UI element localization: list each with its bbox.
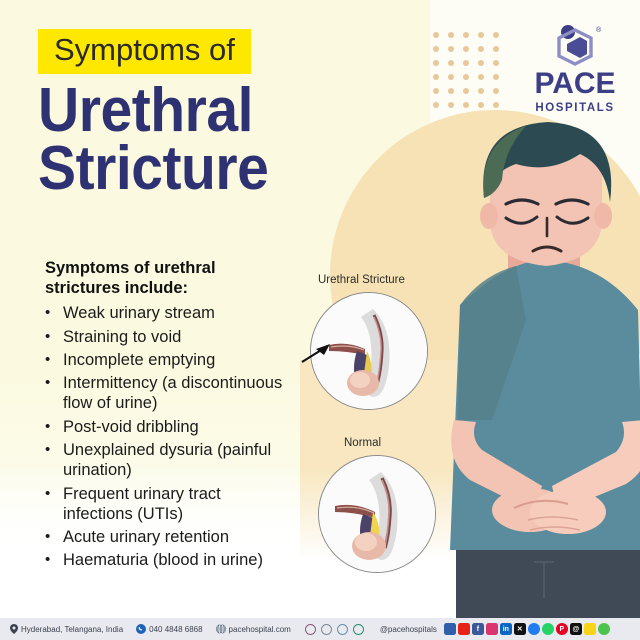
threads-icon[interactable]: @ — [570, 623, 582, 635]
symptoms-heading: Symptoms of urethral strictures include: — [45, 258, 295, 298]
symptoms-list: •Weak urinary stream •Straining to void … — [45, 303, 295, 570]
list-item: •Acute urinary retention — [45, 527, 295, 547]
globe-icon — [216, 624, 226, 634]
list-item-label: Intermittency (a discontinuous flow of u… — [63, 373, 295, 414]
instagram-icon[interactable] — [486, 623, 498, 635]
nabh-badge — [305, 624, 316, 635]
list-item: •Post-void dribbling — [45, 417, 295, 437]
bullet-icon: • — [45, 440, 63, 460]
youtube-icon[interactable] — [458, 623, 470, 635]
bookmark-icon[interactable] — [444, 623, 456, 635]
bullet-icon: • — [45, 303, 63, 323]
kicker-banner: Symptoms of — [38, 29, 251, 74]
brand-name: PACE — [520, 69, 630, 99]
list-item-label: Acute urinary retention — [63, 527, 295, 547]
list-item-label: Unexplained dysuria (painful urination) — [63, 440, 295, 481]
list-item: •Frequent urinary tract infections (UTIs… — [45, 484, 295, 525]
symptoms-section: Symptoms of urethral strictures include:… — [45, 258, 295, 574]
x-twitter-icon[interactable]: ✕ — [514, 623, 526, 635]
stricture-pointer-arrow-icon — [300, 340, 336, 371]
footer-bar: Hyderabad, Telangana, India 040 4848 686… — [0, 618, 640, 640]
phone-icon — [136, 624, 146, 634]
list-item: •Weak urinary stream — [45, 303, 295, 323]
list-item: •Straining to void — [45, 327, 295, 347]
social-handle: @pacehospitals — [380, 625, 437, 634]
snapchat-icon[interactable] — [584, 623, 596, 635]
footer-website[interactable]: pacehospital.com — [216, 624, 291, 634]
footer-location: Hyderabad, Telangana, India — [10, 624, 123, 634]
green-badge — [353, 624, 364, 635]
iso-badge — [337, 624, 348, 635]
accreditation-badges — [305, 624, 364, 635]
list-item-label: Haematuria (blood in urine) — [63, 550, 295, 570]
list-item-label: Straining to void — [63, 327, 295, 347]
social-links: f in ✕ P @ — [444, 623, 610, 635]
bullet-icon: • — [45, 350, 63, 370]
linkedin-icon[interactable]: in — [500, 623, 512, 635]
bullet-icon: • — [45, 327, 63, 347]
brand-logo[interactable]: ® PACE HOSPITALS — [520, 22, 630, 114]
bullet-icon: • — [45, 417, 63, 437]
diagram-label-normal: Normal — [344, 437, 381, 449]
bullet-icon: • — [45, 550, 63, 570]
footer-contact-group: Hyderabad, Telangana, India 040 4848 686… — [10, 624, 291, 634]
title-line-1: Urethral — [38, 82, 268, 140]
bullet-icon: • — [45, 484, 63, 504]
man-holding-abdomen-illustration — [430, 120, 640, 620]
hexagon-person-icon: ® — [520, 22, 630, 68]
list-item: •Haematuria (blood in urine) — [45, 550, 295, 570]
list-item-label: Incomplete emptying — [63, 350, 295, 370]
footer-location-label: Hyderabad, Telangana, India — [21, 625, 123, 634]
footer-phone-label: 040 4848 6868 — [149, 625, 202, 634]
wechat-icon[interactable] — [598, 623, 610, 635]
footer-phone[interactable]: 040 4848 6868 — [136, 624, 202, 634]
diagram-label-stricture: Urethral Stricture — [318, 274, 405, 286]
list-item: •Incomplete emptying — [45, 350, 295, 370]
list-item: •Intermittency (a discontinuous flow of … — [45, 373, 295, 414]
list-item-label: Post-void dribbling — [63, 417, 295, 437]
map-pin-icon — [10, 624, 18, 634]
messenger-icon[interactable] — [528, 623, 540, 635]
dot-grid-decoration — [433, 32, 499, 116]
pinterest-icon[interactable]: P — [556, 623, 568, 635]
male-urethra-normal-diagram — [318, 455, 436, 573]
nabl-badge — [321, 624, 332, 635]
svg-text:®: ® — [596, 26, 602, 34]
list-item-label: Frequent urinary tract infections (UTIs) — [63, 484, 295, 525]
list-item: •Unexplained dysuria (painful urination) — [45, 440, 295, 481]
whatsapp-icon[interactable] — [542, 623, 554, 635]
footer-website-label: pacehospital.com — [229, 625, 291, 634]
page-title: Urethral Stricture — [38, 82, 268, 197]
bullet-icon: • — [45, 373, 63, 393]
symptoms-heading-line-1: Symptoms of urethral — [45, 258, 295, 278]
title-line-2: Stricture — [38, 140, 268, 198]
brand-subtitle: HOSPITALS — [520, 102, 630, 114]
facebook-icon[interactable]: f — [472, 623, 484, 635]
bullet-icon: • — [45, 527, 63, 547]
symptoms-heading-line-2: strictures include: — [45, 278, 295, 298]
list-item-label: Weak urinary stream — [63, 303, 295, 323]
